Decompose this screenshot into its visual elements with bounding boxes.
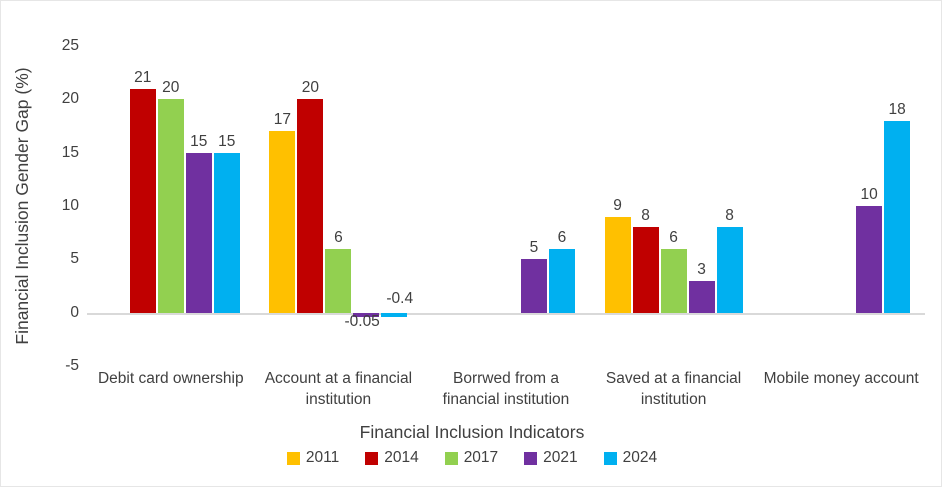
bar-slot: 17 (269, 46, 295, 366)
y-axis-tick-label: 10 (62, 197, 79, 215)
legend-label: 2021 (543, 449, 577, 467)
bar-value-label: 6 (334, 230, 343, 246)
bar-slot (102, 46, 128, 366)
bar[interactable] (856, 206, 882, 313)
bar-group-bars: 21201515 (87, 46, 255, 366)
bar-slot: 9 (605, 46, 631, 366)
bar-slot: 8 (717, 46, 743, 366)
bar-slot: 18 (884, 46, 910, 366)
bar-chart-figure: Financial Inclusion Gender Gap (%) 25201… (0, 0, 942, 487)
bar[interactable] (269, 131, 295, 312)
bar-slot (800, 46, 826, 366)
y-axis-tick-label: -5 (65, 357, 79, 375)
bar[interactable] (325, 249, 351, 313)
bar-value-label: -0.05 (344, 314, 379, 330)
legend-swatch-icon (524, 452, 537, 465)
bar-slot: 3 (689, 46, 715, 366)
bar-value-label: 8 (725, 208, 734, 224)
legend-item[interactable]: 2014 (365, 449, 418, 467)
y-axis-tick-label: 5 (70, 250, 79, 268)
bar[interactable] (633, 227, 659, 312)
bar[interactable] (717, 227, 743, 312)
bar[interactable] (549, 249, 575, 313)
bar[interactable] (689, 281, 715, 313)
bar-slot: 6 (549, 46, 575, 366)
bar-slot: 5 (521, 46, 547, 366)
bar-slot: 6 (661, 46, 687, 366)
bar-slot: 15 (214, 46, 240, 366)
bar[interactable] (214, 153, 240, 313)
bar[interactable] (297, 99, 323, 312)
bar[interactable] (186, 153, 212, 313)
y-axis-tick-label: 15 (62, 144, 79, 162)
bar-group: 21201515 (87, 46, 255, 366)
bar[interactable] (158, 99, 184, 312)
bar-group-bars: 17206-0.05-0.4 (255, 46, 423, 366)
bar-groups: 2120151517206-0.05-0.456986381018 (87, 46, 925, 366)
bar-slot (772, 46, 798, 366)
bar-slot: -0.05 (353, 46, 379, 366)
bar-slot: 15 (186, 46, 212, 366)
bar-slot: 20 (297, 46, 323, 366)
bar-slot (437, 46, 463, 366)
bar-value-label: 8 (641, 208, 650, 224)
y-axis-tick-label: 20 (62, 90, 79, 108)
bar-value-label: 5 (530, 240, 539, 256)
plot-area: 2520151050-5 2120151517206-0.05-0.456986… (87, 46, 925, 366)
bar-group: 56 (422, 46, 590, 366)
bar-group-bars: 1018 (757, 46, 925, 366)
legend-label: 2024 (623, 449, 657, 467)
bar-slot: 10 (856, 46, 882, 366)
x-axis-category-labels: Debit card ownershipAccount at a financi… (87, 369, 925, 411)
bar[interactable] (381, 313, 407, 317)
legend-label: 2011 (306, 449, 339, 467)
legend-item[interactable]: 2017 (445, 449, 498, 467)
bar-value-label: 20 (162, 80, 179, 96)
legend-item[interactable]: 2024 (604, 449, 657, 467)
x-axis-category-label: Borrwed from a financial institution (422, 369, 590, 411)
bar-value-label: 3 (697, 262, 706, 278)
legend-label: 2014 (384, 449, 418, 467)
y-axis-tick-label: 0 (70, 304, 79, 322)
x-axis-category-label: Debit card ownership (87, 369, 255, 411)
bar[interactable] (521, 259, 547, 312)
y-axis-tick-label: 25 (62, 37, 79, 55)
legend-item[interactable]: 2011 (287, 449, 339, 467)
bar-value-label: 17 (274, 112, 291, 128)
legend-swatch-icon (604, 452, 617, 465)
bar[interactable] (130, 89, 156, 313)
bar-value-label: 21 (134, 70, 151, 86)
bar[interactable] (884, 121, 910, 313)
bar-value-label: 10 (861, 187, 878, 203)
bar-value-label: 6 (558, 230, 567, 246)
legend-item[interactable]: 2021 (524, 449, 577, 467)
legend-swatch-icon (287, 452, 300, 465)
bar-slot: -0.4 (381, 46, 407, 366)
bar-group: 98638 (590, 46, 758, 366)
bar-value-label: 9 (613, 198, 622, 214)
x-axis-category-label: Account at a financial institution (255, 369, 423, 411)
bar-slot: 20 (158, 46, 184, 366)
bar[interactable] (605, 217, 631, 313)
bar[interactable] (661, 249, 687, 313)
bar-group: 17206-0.05-0.4 (255, 46, 423, 366)
legend-swatch-icon (365, 452, 378, 465)
chart-legend: 20112014201720212024 (1, 449, 942, 467)
bar-group-bars: 56 (422, 46, 590, 366)
bar-slot (493, 46, 519, 366)
x-axis-category-label: Mobile money account (757, 369, 925, 411)
bar-slot (465, 46, 491, 366)
bar-group-bars: 98638 (590, 46, 758, 366)
bar-value-label: 18 (889, 102, 906, 118)
x-axis-category-label: Saved at a financial institution (590, 369, 758, 411)
bar-group: 1018 (757, 46, 925, 366)
x-axis-title: Financial Inclusion Indicators (1, 422, 942, 443)
bar-value-label: 20 (302, 80, 319, 96)
bar-value-label: 15 (218, 134, 235, 150)
bar-slot: 21 (130, 46, 156, 366)
bar-value-label: -0.4 (386, 291, 413, 307)
bar-value-label: 6 (669, 230, 678, 246)
y-axis-title: Financial Inclusion Gender Gap (%) (5, 11, 39, 401)
bar-slot: 8 (633, 46, 659, 366)
bar-value-label: 15 (190, 134, 207, 150)
bar-slot (828, 46, 854, 366)
legend-label: 2017 (464, 449, 498, 467)
legend-swatch-icon (445, 452, 458, 465)
